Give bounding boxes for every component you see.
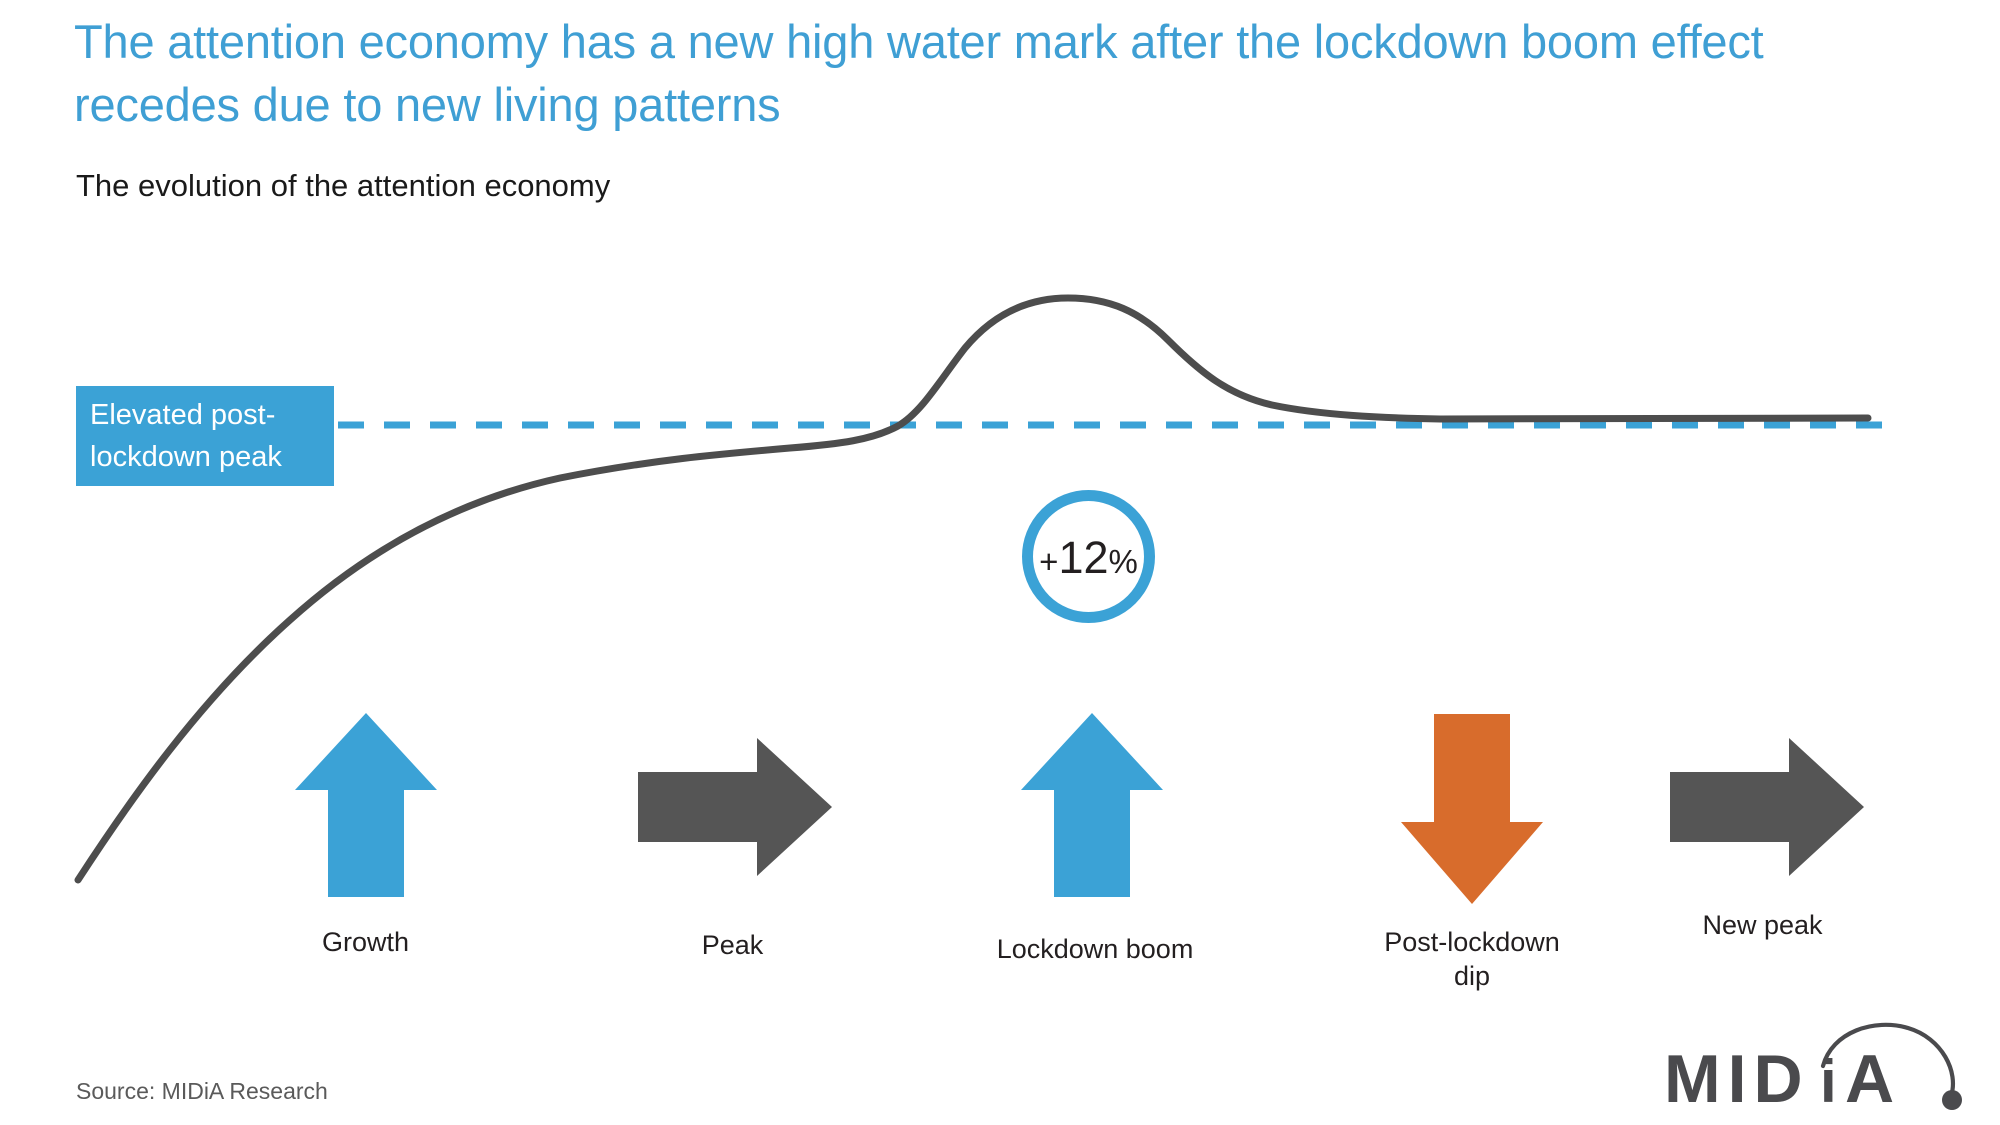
right-arrow-icon-peak bbox=[638, 738, 832, 876]
up-arrow-icon-lockdown-boom bbox=[1021, 713, 1163, 897]
right-arrow-icon-new-peak bbox=[1670, 738, 1864, 876]
midia-logo-mark: MID i A bbox=[1660, 1014, 1980, 1114]
stage-label-post-lockdown-dip: Post-lockdown dip bbox=[1362, 925, 1582, 993]
stage-label-peak: Peak bbox=[630, 928, 835, 962]
percent-number: 12 bbox=[1058, 535, 1108, 580]
source-note: Source: MIDiA Research bbox=[76, 1077, 328, 1105]
slide-root: The attention economy has a new high wat… bbox=[0, 0, 2000, 1125]
svg-text:i: i bbox=[1820, 1048, 1837, 1114]
callout-line-1: Elevated post- bbox=[90, 394, 320, 436]
percent-badge-value: + 12 % bbox=[1039, 535, 1138, 580]
stage-label-post-lockdown-dip-line-2: dip bbox=[1454, 961, 1490, 991]
midia-logo: MID i A bbox=[1660, 1014, 1980, 1114]
up-arrow-icon-growth bbox=[295, 713, 437, 897]
percent-sign: + bbox=[1039, 545, 1058, 578]
midia-logo-wordmark: MID i A bbox=[1664, 1041, 1894, 1114]
stage-label-new-peak: New peak bbox=[1660, 908, 1865, 942]
svg-text:MID: MID bbox=[1664, 1041, 1810, 1114]
stage-label-post-lockdown-dip-line-1: Post-lockdown bbox=[1384, 927, 1560, 957]
callout-elevated-peak: Elevated post- lockdown peak bbox=[76, 386, 334, 486]
stage-label-growth: Growth bbox=[263, 925, 468, 959]
midia-logo-dot bbox=[1942, 1090, 1962, 1110]
callout-line-2: lockdown peak bbox=[90, 436, 320, 478]
percent-badge: + 12 % bbox=[1022, 490, 1155, 623]
stage-label-lockdown-boom: Lockdown boom bbox=[990, 932, 1200, 966]
percent-unit: % bbox=[1109, 545, 1138, 578]
down-arrow-icon-post-lockdown-dip bbox=[1401, 714, 1543, 904]
svg-text:A: A bbox=[1845, 1041, 1894, 1114]
